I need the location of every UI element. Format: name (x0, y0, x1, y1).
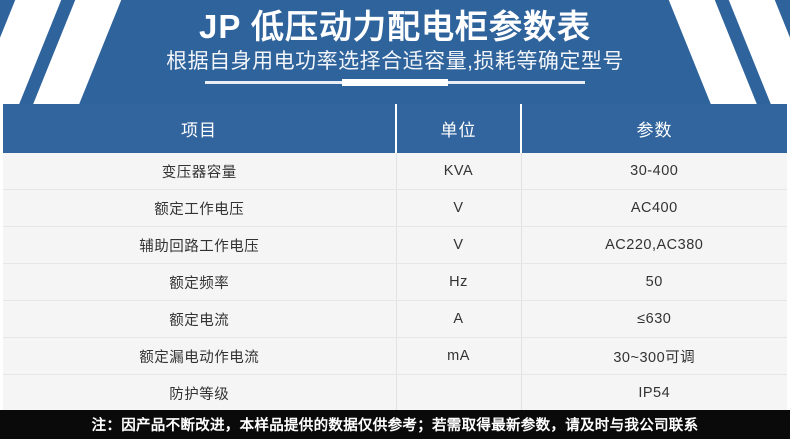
spec-table-container: 项目 单位 参数 变压器容量 KVA 30-400 额定工作电压 V AC400… (0, 104, 790, 416)
spec-table-body: 变压器容量 KVA 30-400 额定工作电压 V AC400 辅助回路工作电压… (3, 153, 787, 411)
spec-table: 项目 单位 参数 变压器容量 KVA 30-400 额定工作电压 V AC400… (3, 104, 787, 411)
title-divider (205, 81, 585, 84)
cell-value: IP54 (521, 375, 787, 412)
spec-table-head: 项目 单位 参数 (3, 104, 787, 153)
cell-item: 辅助回路工作电压 (3, 227, 396, 264)
column-header-value: 参数 (521, 104, 787, 153)
table-row: 额定漏电动作电流 mA 30~300可调 (3, 338, 787, 375)
table-row: 辅助回路工作电压 V AC220,AC380 (3, 227, 787, 264)
table-row: 变压器容量 KVA 30-400 (3, 153, 787, 190)
table-row: 额定电流 A ≤630 (3, 301, 787, 338)
cell-item: 防护等级 (3, 375, 396, 412)
cell-unit: A (396, 301, 521, 338)
column-header-item: 项目 (3, 104, 396, 153)
banner: JP 低压动力配电柜参数表 根据自身用电功率选择合适容量,损耗等确定型号 (0, 0, 790, 104)
cell-unit: Hz (396, 264, 521, 301)
cell-unit: V (396, 190, 521, 227)
banner-content: JP 低压动力配电柜参数表 根据自身用电功率选择合适容量,损耗等确定型号 (0, 0, 790, 104)
page-title: JP 低压动力配电柜参数表 (199, 6, 591, 48)
page-subtitle: 根据自身用电功率选择合适容量,损耗等确定型号 (166, 48, 624, 76)
table-header-row: 项目 单位 参数 (3, 104, 787, 153)
table-row: 额定频率 Hz 50 (3, 264, 787, 301)
cell-value: ≤630 (521, 301, 787, 338)
footer-note: 注：因产品不断改进，本样品提供的数据仅供参考；若需取得最新参数，请及时与我公司联… (0, 410, 790, 439)
table-row: 防护等级 IP54 (3, 375, 787, 412)
cell-item: 额定频率 (3, 264, 396, 301)
title-divider-center (342, 79, 448, 86)
column-header-unit: 单位 (396, 104, 521, 153)
cell-value: 50 (521, 264, 787, 301)
cell-unit: KVA (396, 153, 521, 190)
cell-unit (396, 375, 521, 412)
cell-item: 额定工作电压 (3, 190, 396, 227)
cell-value: 30-400 (521, 153, 787, 190)
cell-item: 变压器容量 (3, 153, 396, 190)
cell-value: AC400 (521, 190, 787, 227)
cell-value: AC220,AC380 (521, 227, 787, 264)
cell-unit: V (396, 227, 521, 264)
table-row: 额定工作电压 V AC400 (3, 190, 787, 227)
cell-item: 额定漏电动作电流 (3, 338, 396, 375)
spec-sheet-page: JP 低压动力配电柜参数表 根据自身用电功率选择合适容量,损耗等确定型号 项目 … (0, 0, 790, 439)
cell-unit: mA (396, 338, 521, 375)
cell-item: 额定电流 (3, 301, 396, 338)
cell-value: 30~300可调 (521, 338, 787, 375)
